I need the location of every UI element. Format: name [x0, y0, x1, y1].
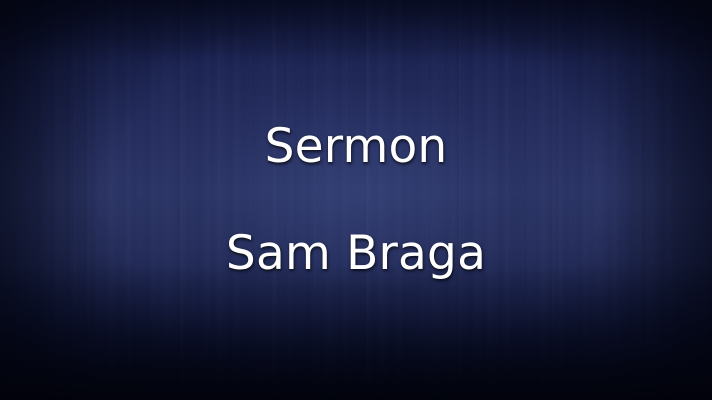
presentation-slide: Sermon Sam Braga [0, 0, 712, 400]
slide-text-container: Sermon Sam Braga [0, 0, 712, 400]
slide-title: Sermon [265, 123, 448, 170]
slide-speaker-name: Sam Braga [226, 230, 486, 277]
